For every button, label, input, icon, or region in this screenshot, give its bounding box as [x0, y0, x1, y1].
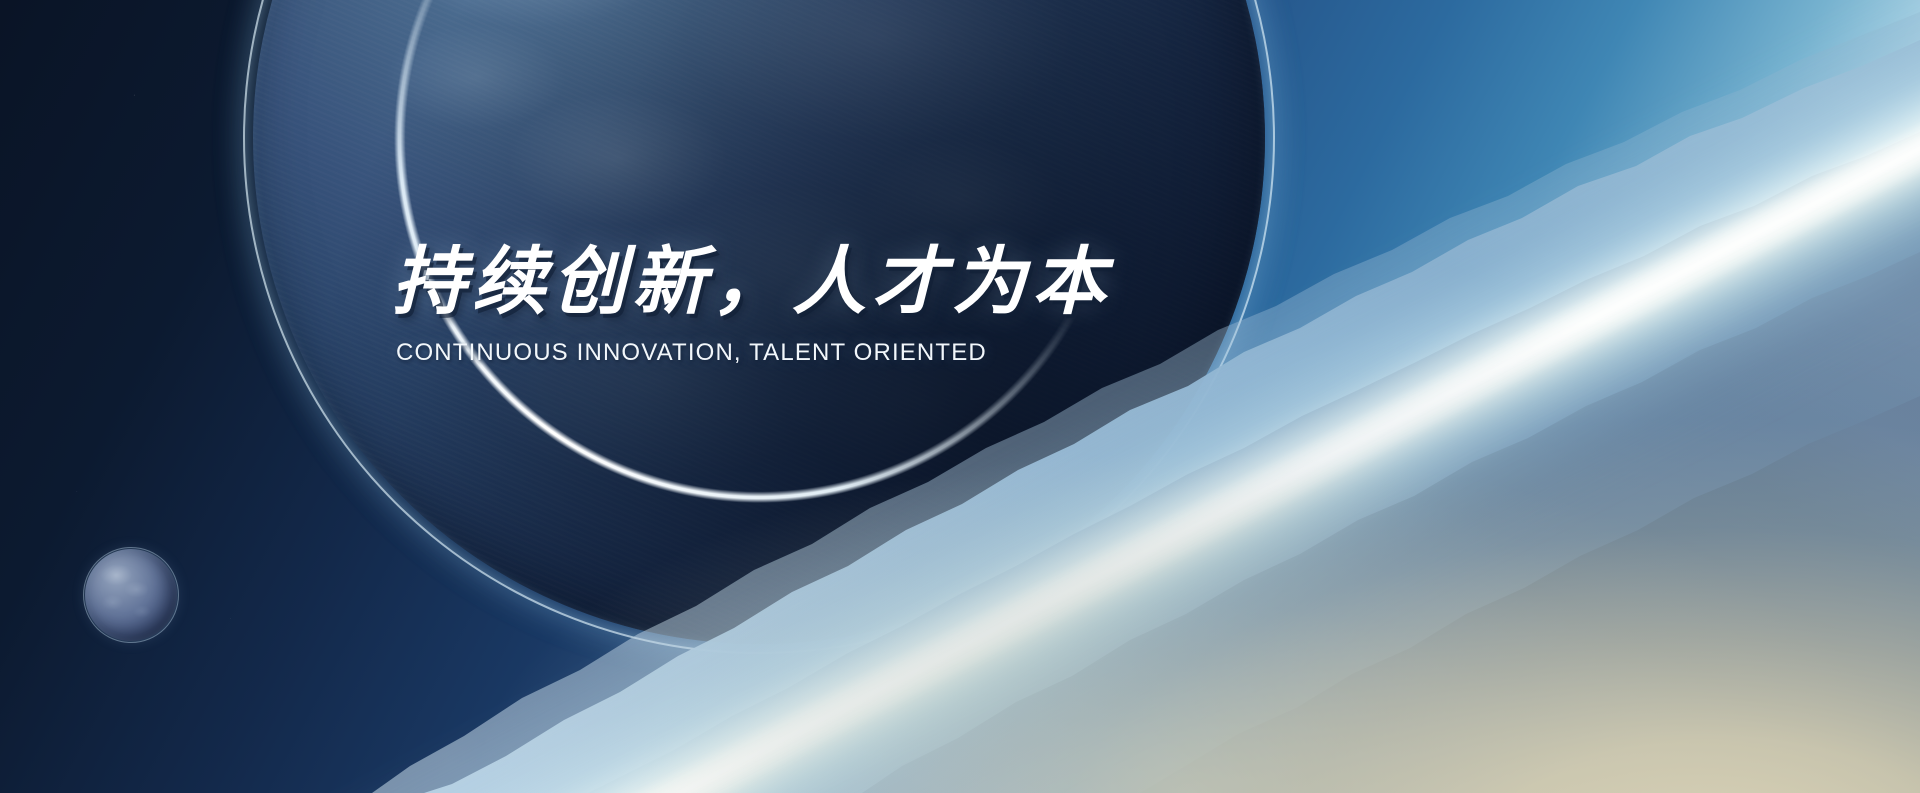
hero-banner: 持续创新，人才为本 CONTINUOUS INNOVATION, TALENT … [0, 0, 1920, 793]
banner-headline-cn: 持续创新，人才为本 [392, 243, 1212, 323]
banner-copy: 持续创新，人才为本 CONTINUOUS INNOVATION, TALENT … [392, 243, 1212, 367]
banner-subheadline-en: CONTINUOUS INNOVATION, TALENT ORIENTED [396, 339, 1212, 367]
small-moon [85, 549, 177, 641]
moon-surface-texture [85, 549, 177, 641]
